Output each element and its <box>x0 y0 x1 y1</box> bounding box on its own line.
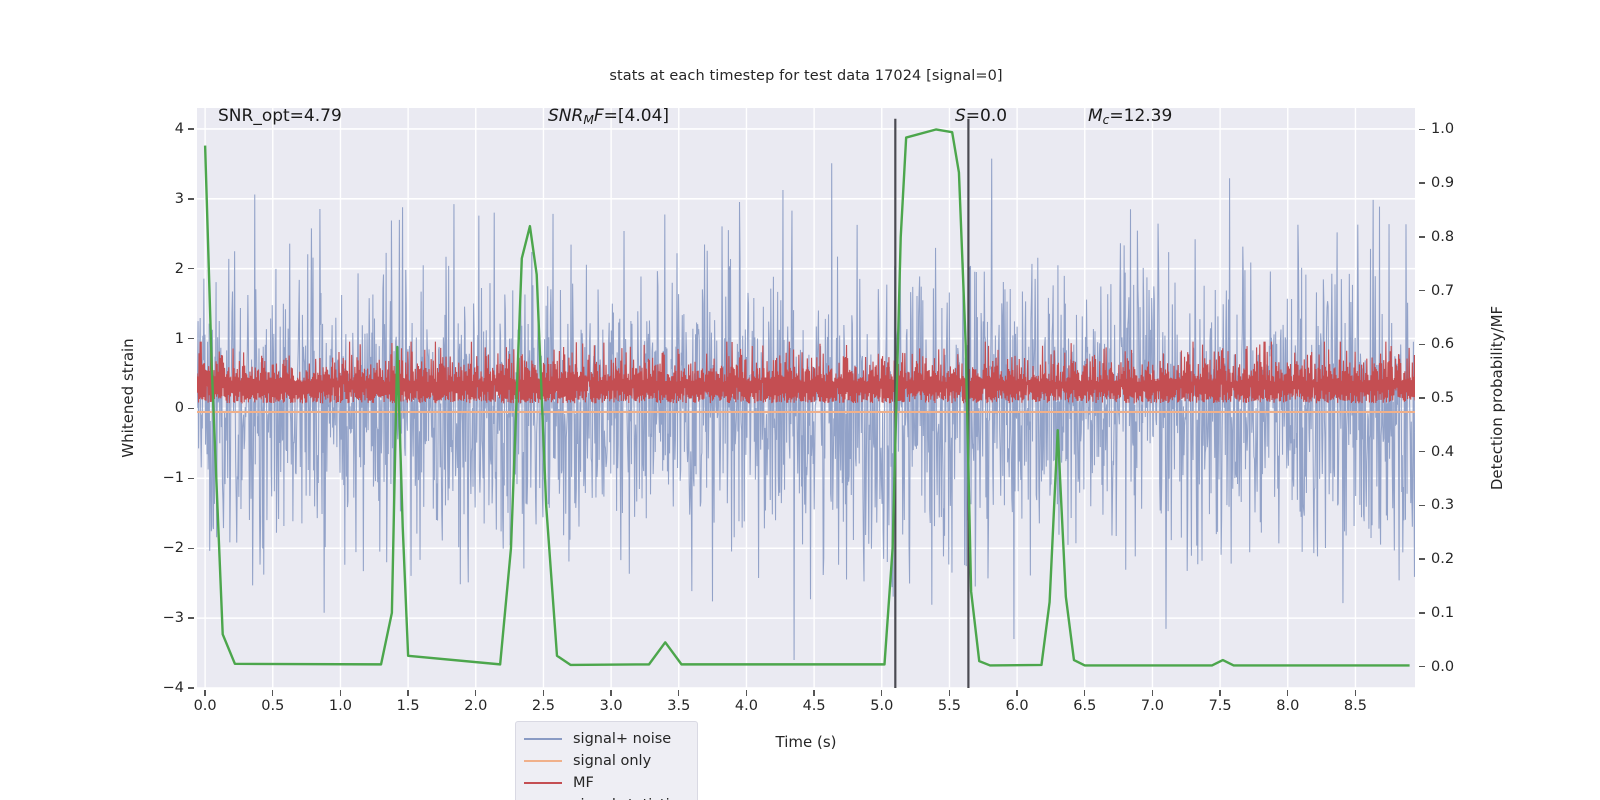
in-plot-annotations: SNR_opt=4.79SNRMF=[4.04]S=0.0Mc=12.39 <box>197 108 1415 688</box>
x-tick-mark <box>407 690 408 696</box>
x-tick-mark <box>881 690 882 696</box>
x-tick-mark <box>949 690 950 696</box>
x-tick-label: 8.5 <box>1344 698 1367 714</box>
x-tick-mark <box>1152 690 1153 696</box>
x-tick-mark <box>1219 690 1220 696</box>
y-tick-right-mark <box>1419 612 1425 613</box>
y-tick-left-label: 1 <box>175 331 184 347</box>
x-tick-label: 7.0 <box>1141 698 1164 714</box>
x-tick-label: 8.0 <box>1276 698 1299 714</box>
legend-label: MF <box>573 775 594 791</box>
x-tick-mark <box>272 690 273 696</box>
x-tick-mark <box>204 690 205 696</box>
x-tick-label: 1.0 <box>329 698 352 714</box>
y-tick-left-label: 3 <box>175 191 184 207</box>
y-tick-right-label: 0.6 <box>1431 336 1454 352</box>
y-tick-left-mark <box>188 268 194 269</box>
x-tick-mark <box>340 690 341 696</box>
x-tick-label: 7.5 <box>1209 698 1232 714</box>
x-tick-label: 0.5 <box>261 698 284 714</box>
y-tick-right-label: 0.5 <box>1431 390 1454 406</box>
legend-item-signal-only[interactable]: signal only <box>524 750 685 772</box>
y-tick-right-mark <box>1419 290 1425 291</box>
y-tick-left-label: −1 <box>163 470 184 486</box>
y-tick-right-label: 0.4 <box>1431 444 1454 460</box>
y-tick-right-mark <box>1419 397 1425 398</box>
y-tick-left-mark <box>188 128 194 129</box>
x-tick-mark <box>543 690 544 696</box>
x-tick-mark <box>475 690 476 696</box>
annotation-mchirp: Mc=12.39 <box>1088 106 1172 127</box>
legend-label: signal only <box>573 753 651 769</box>
legend-item-mf[interactable]: MF <box>524 772 685 794</box>
x-tick-mark <box>1355 690 1356 696</box>
figure-canvas: stats at each timestep for test data 170… <box>0 0 1600 800</box>
y-tick-right-mark <box>1419 558 1425 559</box>
x-tick-mark <box>1084 690 1085 696</box>
plot-area: SNR_opt=4.79SNRMF=[4.04]S=0.0Mc=12.39 si… <box>197 108 1415 688</box>
y-tick-right-mark <box>1419 129 1425 130</box>
x-tick-label: 4.5 <box>803 698 826 714</box>
y-tick-right-mark <box>1419 182 1425 183</box>
y-tick-left-mark <box>188 408 194 409</box>
y-tick-right-label: 0.2 <box>1431 551 1454 567</box>
x-tick-label: 6.0 <box>1006 698 1029 714</box>
y-tick-right-label: 0.8 <box>1431 229 1454 245</box>
y-axis-left-label: Whitened strain <box>119 338 137 457</box>
x-tick-mark <box>678 690 679 696</box>
y-tick-left-mark <box>188 687 194 688</box>
y-tick-left-mark <box>188 617 194 618</box>
x-tick-label: 2.5 <box>532 698 555 714</box>
legend[interactable]: signal+ noisesignal onlyMFsignal statist… <box>515 721 698 800</box>
x-tick-label: 3.0 <box>600 698 623 714</box>
y-tick-right-label: 1.0 <box>1431 121 1454 137</box>
y-tick-right-label: 0.7 <box>1431 283 1454 299</box>
annotation-s: S=0.0 <box>955 106 1007 126</box>
y-tick-left-mark <box>188 548 194 549</box>
y-tick-left-label: −4 <box>163 680 184 696</box>
y-tick-right-label: 0.9 <box>1431 175 1454 191</box>
y-tick-left-mark <box>188 338 194 339</box>
legend-item-signal-statistics[interactable]: signal statistics <box>524 794 685 800</box>
y-tick-left-label: −3 <box>163 610 184 626</box>
y-tick-left-mark <box>188 198 194 199</box>
plot-title: stats at each timestep for test data 170… <box>197 68 1415 84</box>
annotation-snr-mf: SNRMF=[4.04] <box>548 106 669 127</box>
x-tick-mark <box>746 690 747 696</box>
y-axis-right-label: Detection probability/MF <box>1488 306 1506 490</box>
legend-swatch <box>524 760 562 762</box>
x-axis-label: Time (s) <box>776 733 837 751</box>
annotation-snr-opt: SNR_opt=4.79 <box>218 106 342 126</box>
x-tick-label: 2.0 <box>464 698 487 714</box>
y-tick-right-mark <box>1419 505 1425 506</box>
x-tick-label: 5.0 <box>870 698 893 714</box>
x-tick-mark <box>813 690 814 696</box>
x-tick-label: 1.5 <box>397 698 420 714</box>
x-tick-label: 3.5 <box>667 698 690 714</box>
y-tick-right-mark <box>1419 344 1425 345</box>
y-tick-left-label: −2 <box>163 540 184 556</box>
legend-label: signal+ noise <box>573 731 671 747</box>
x-tick-mark <box>1016 690 1017 696</box>
x-tick-label: 5.5 <box>938 698 961 714</box>
y-tick-right-label: 0.3 <box>1431 497 1454 513</box>
legend-swatch <box>524 782 562 784</box>
legend-item-signal-noise[interactable]: signal+ noise <box>524 728 685 750</box>
y-tick-right-label: 0.0 <box>1431 659 1454 675</box>
y-tick-left-label: 4 <box>175 121 184 137</box>
x-tick-label: 6.5 <box>1073 698 1096 714</box>
y-tick-right-mark <box>1419 236 1425 237</box>
x-tick-mark <box>610 690 611 696</box>
y-tick-left-label: 0 <box>175 400 184 416</box>
y-tick-left-mark <box>188 478 194 479</box>
y-tick-right-label: 0.1 <box>1431 605 1454 621</box>
x-tick-label: 0.0 <box>194 698 217 714</box>
y-tick-right-mark <box>1419 451 1425 452</box>
y-tick-left-label: 2 <box>175 261 184 277</box>
legend-swatch <box>524 738 562 740</box>
y-tick-right-mark <box>1419 666 1425 667</box>
x-tick-mark <box>1287 690 1288 696</box>
x-tick-label: 4.0 <box>735 698 758 714</box>
